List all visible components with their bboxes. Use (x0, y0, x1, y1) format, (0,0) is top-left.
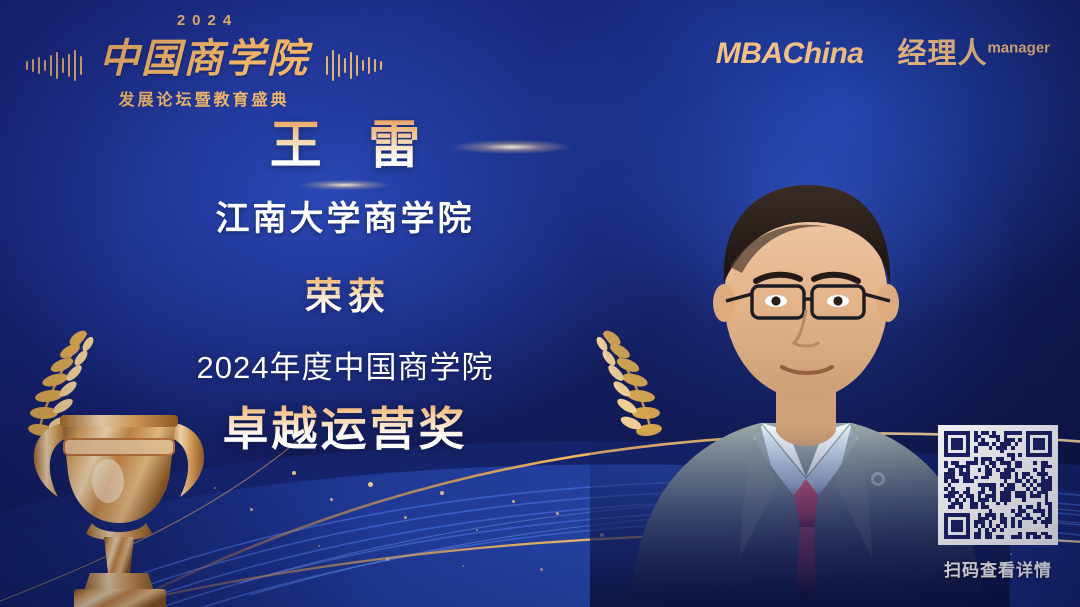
laureate-affiliation: 江南大学商学院 (0, 191, 690, 240)
light-flare-icon (300, 180, 390, 190)
qr-code-modules (944, 431, 1052, 539)
mbachina-logo: MBAChina (716, 37, 864, 71)
award-poster: 2024 中国商学院 发展论坛暨教育盛典 MBAChina 经理人manager… (0, 0, 1080, 607)
honor-verb: 荣获 (0, 266, 690, 320)
trophy-cup-icon (4, 377, 234, 607)
waveform-bars-right (326, 48, 382, 82)
manager-logo-cn: 经理人 (897, 38, 987, 70)
qr-caption: 扫码查看详情 (938, 556, 1058, 581)
brand-logos: MBAChina 经理人manager (716, 30, 1050, 72)
manager-logo-en: manager (987, 39, 1050, 56)
event-logo: 2024 中国商学院 发展论坛暨教育盛典 (24, 8, 384, 116)
laureate-name: 王 雷 (0, 118, 690, 175)
qr-code[interactable] (938, 425, 1058, 545)
trophy-svg (4, 377, 234, 607)
manager-magazine-logo: 经理人manager (897, 30, 1050, 72)
logo-subtitle: 发展论坛暨教育盛典 (24, 86, 384, 110)
